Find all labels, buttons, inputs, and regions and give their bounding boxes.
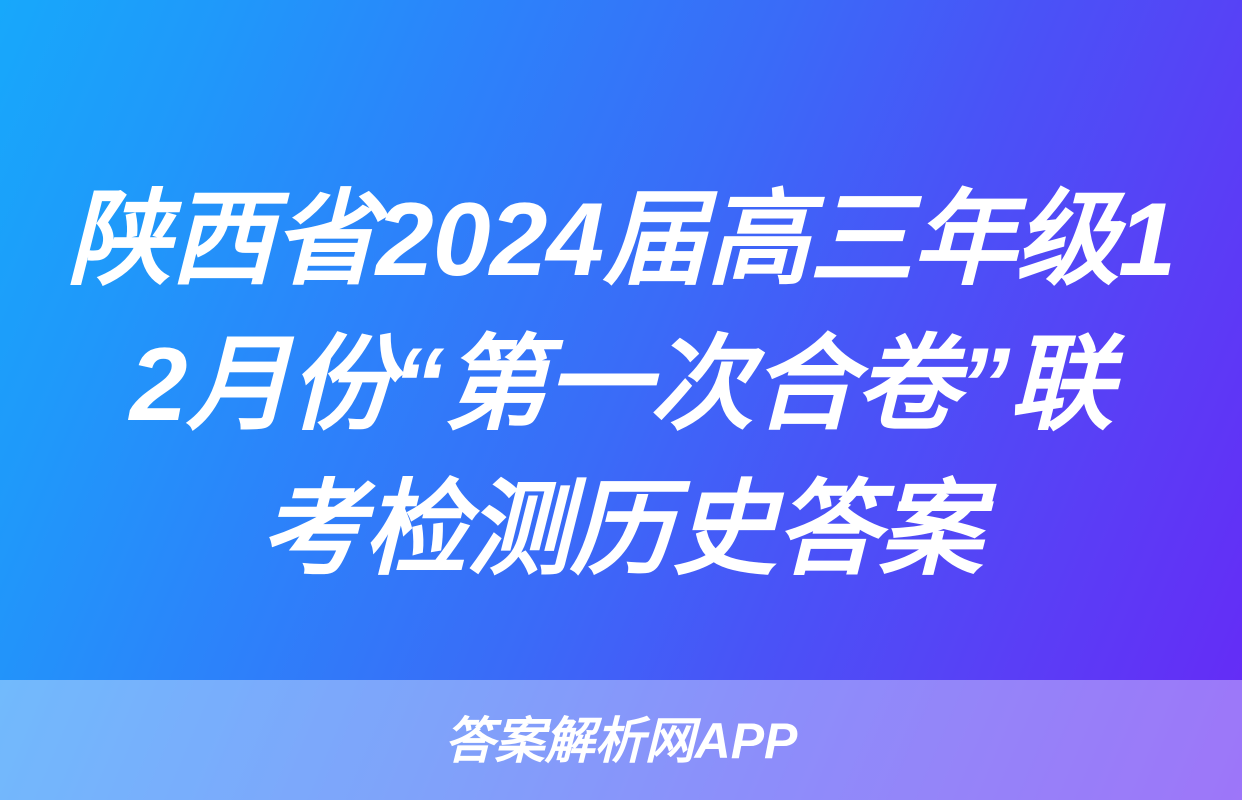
page-title: 陕西省2024届高三年级1 2月份“第一次合卷”联 考检测历史答案 [0,168,1242,603]
title-line-1: 陕西省2024届高三年级1 [56,168,1186,313]
title-line-2: 2月份“第一次合卷”联 [56,313,1186,458]
title-line-3: 考检测历史答案 [56,458,1186,603]
poster-canvas: 陕西省2024届高三年级1 2月份“第一次合卷”联 考检测历史答案 答案解析网A… [0,0,1242,800]
footer-watermark-band: 答案解析网APP [0,680,1242,800]
app-watermark-label: 答案解析网APP [445,716,798,766]
